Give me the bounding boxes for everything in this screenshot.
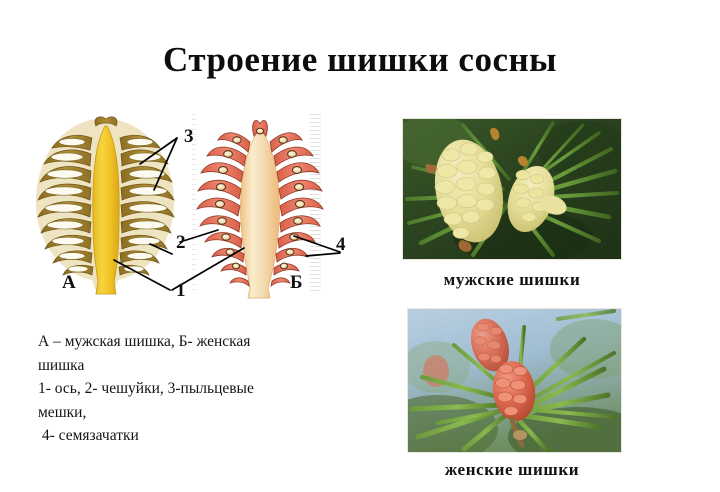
female-cones-label: женские шишки (382, 460, 642, 480)
caption-line-5: 4- семязачатки (38, 424, 328, 448)
callout-number-3: 3 (184, 126, 194, 148)
diagram-caption: А – мужская шишка, Б- женская шишка 1- о… (38, 330, 328, 448)
caption-line-1: А – мужская шишка, Б- женская (38, 330, 328, 354)
callout-number-2: 2 (176, 232, 186, 254)
male-cone-figure (36, 117, 174, 294)
male-cones-label: мужские шишки (382, 270, 642, 290)
male-cones-photo (402, 118, 622, 260)
figure-letter-b: Б (290, 272, 303, 294)
caption-line-4: мешки, (38, 401, 328, 425)
female-cones-photo-svg (408, 309, 621, 452)
caption-line-3: 1- ось, 2- чешуйки, 3-пыльцевые (38, 377, 328, 401)
callout-number-4: 4 (336, 234, 346, 256)
figure-letter-a: А (62, 272, 76, 294)
callout-number-1: 1 (176, 280, 186, 302)
male-cones-photo-svg (403, 119, 621, 259)
page-title: Строение шишки сосны (0, 40, 720, 80)
female-cone-apex (253, 120, 268, 136)
female-cone-figure (197, 120, 323, 298)
female-cones-photo (407, 308, 622, 453)
caption-line-2: шишка (38, 354, 328, 378)
male-cone-axis (93, 126, 119, 294)
